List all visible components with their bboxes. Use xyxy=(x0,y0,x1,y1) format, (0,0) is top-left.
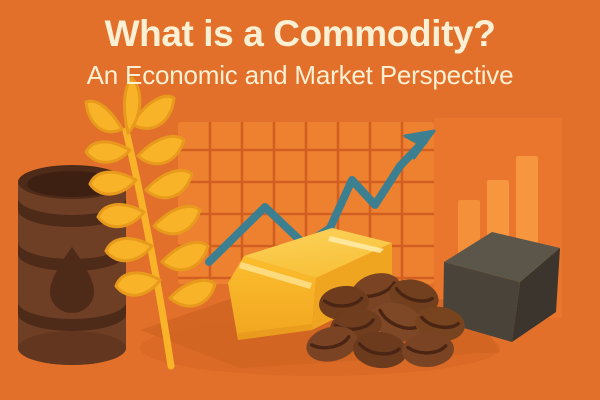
commodity-poster: What is a Commodity? An Economic and Mar… xyxy=(0,0,600,400)
barrel-bottom xyxy=(18,331,126,365)
commodity-illustration xyxy=(0,0,600,400)
